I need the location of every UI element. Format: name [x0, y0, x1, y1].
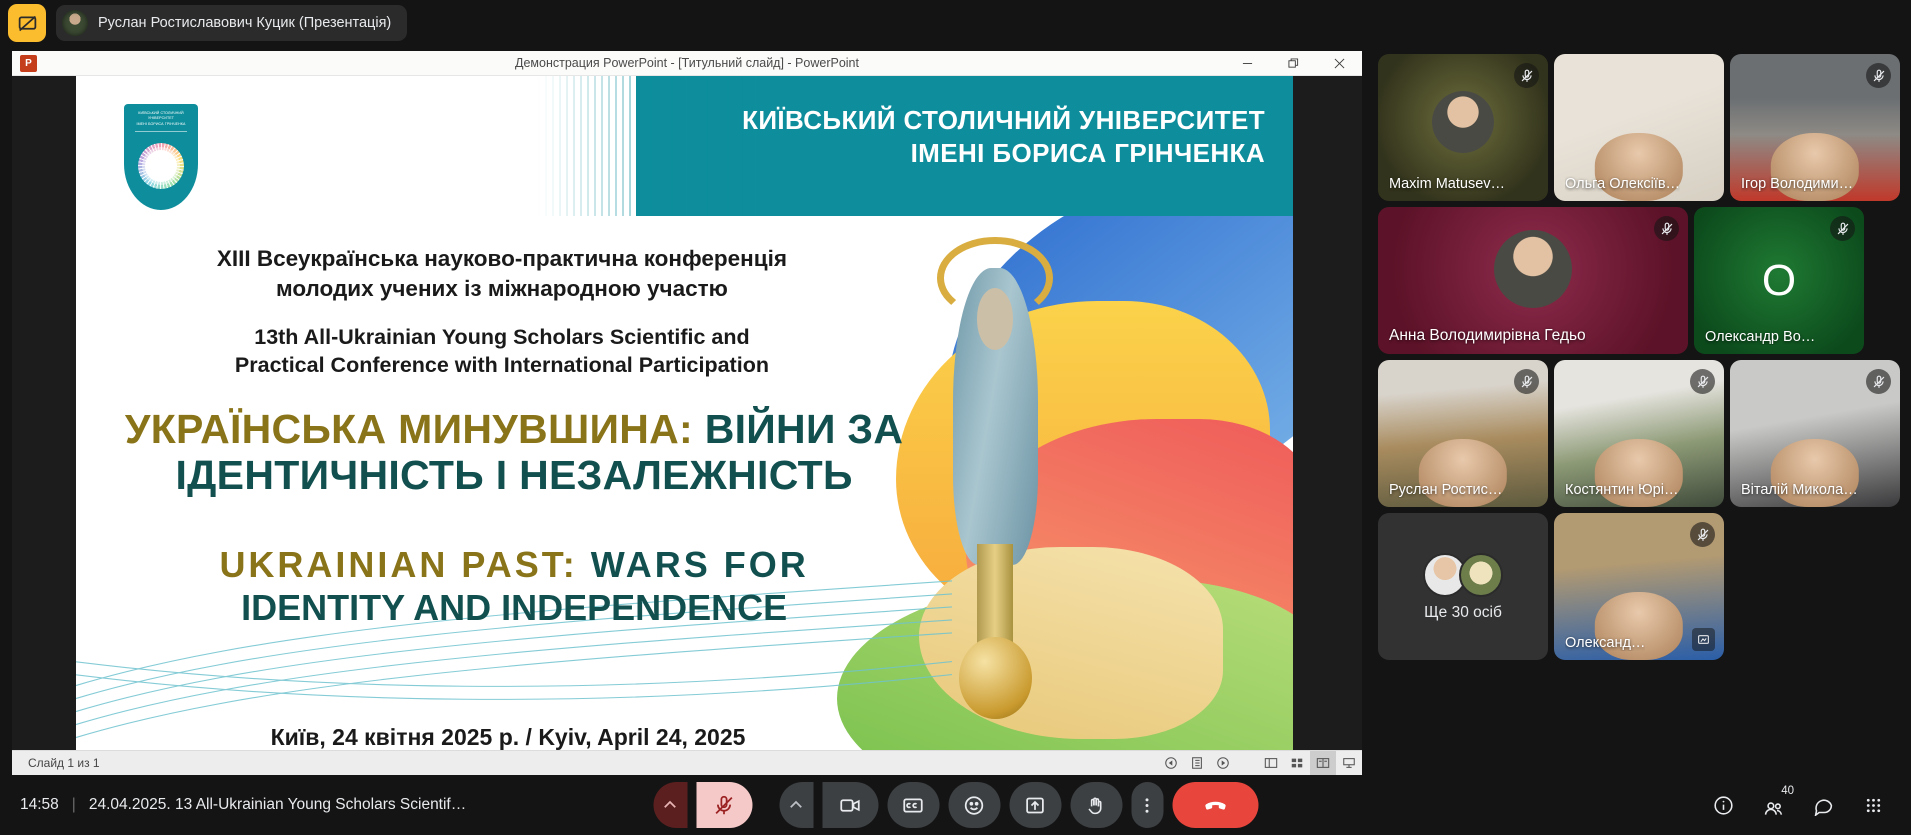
slide-show-area[interactable]: КИЇВСЬКИЙ СТОЛИЧНИЙ УНІВЕРСИТЕТ ІМЕНІ БО…	[12, 76, 1362, 750]
participant-name: Олександ…	[1565, 635, 1645, 651]
participant-tile[interactable]: Олександ…	[1554, 513, 1724, 660]
meeting-info: 14:58 | 24.04.2025. 13 All-Ukrainian You…	[20, 796, 466, 814]
avatar	[1494, 230, 1572, 308]
right-controls: 40	[1701, 775, 1895, 835]
chat-button[interactable]	[1801, 783, 1845, 827]
people-count: 40	[1781, 785, 1794, 797]
participant-grid: Maxim Matusev…Ольга Олексіїв…Ігор Володи…	[1378, 54, 1902, 660]
close-icon[interactable]	[1316, 51, 1362, 76]
presenter-name: Руслан Ростиславович Куцик (Презентація)	[98, 15, 391, 31]
activities-button[interactable]	[1851, 783, 1895, 827]
participant-tile[interactable]: Руслан Ростис…	[1378, 360, 1548, 507]
slide-counter: Слайд 1 из 1	[28, 756, 100, 770]
powerpoint-window: P Демонстрация PowerPoint - [Титульний с…	[12, 51, 1362, 775]
presenter-avatar	[62, 10, 88, 36]
participant-name: Ігор Володими…	[1741, 176, 1853, 192]
mic-off-icon	[1690, 522, 1715, 547]
restore-icon[interactable]	[1270, 51, 1316, 76]
participant-name: Костянтин Юрі…	[1565, 482, 1678, 498]
conference-title-ua: XIII Всеукраїнська науково-практична кон…	[76, 244, 928, 303]
participant-tile[interactable]: Віталій Микола…	[1730, 360, 1900, 507]
next-slide-icon[interactable]	[1210, 751, 1236, 776]
info-divider: |	[72, 796, 76, 814]
camera-options-button[interactable]	[779, 782, 813, 828]
mic-off-icon	[1514, 369, 1539, 394]
mic-toggle-button[interactable]	[696, 782, 752, 828]
camera-toggle-button[interactable]	[822, 782, 878, 828]
participant-tile[interactable]: Ще 30 осіб	[1378, 513, 1548, 660]
mic-off-icon	[1690, 369, 1715, 394]
participant-tile[interactable]: Maxim Matusev…	[1378, 54, 1548, 201]
participant-name: Анна Володимирівна Гедьо	[1389, 327, 1586, 345]
avatar	[1432, 91, 1494, 153]
conference-title-en: 13th All-Ukrainian Young Scholars Scient…	[76, 323, 928, 380]
meeting-details-button[interactable]	[1701, 783, 1745, 827]
participant-name: Ольга Олексіїв…	[1565, 176, 1680, 192]
participant-name: Maxim Matusev…	[1389, 176, 1505, 192]
normal-view-icon[interactable]	[1258, 751, 1284, 776]
mic-options-button[interactable]	[653, 782, 687, 828]
captions-button[interactable]	[887, 782, 939, 828]
stripe-decoration	[538, 76, 757, 216]
mic-off-icon	[1866, 63, 1891, 88]
university-logo: КИЇВСЬКИЙ СТОЛИЧНИЙ УНІВЕРСИТЕТ ІМЕНІ БО…	[124, 104, 198, 210]
participant-tile[interactable]: Костянтин Юрі…	[1554, 360, 1724, 507]
notes-icon[interactable]	[1184, 751, 1210, 776]
main-title-ua: УКРАЇНСЬКА МИНУВШИНА: ВІЙНИ ЗА ІДЕНТИЧНІ…	[76, 406, 952, 499]
participant-tile[interactable]: Ольга Олексіїв…	[1554, 54, 1724, 201]
pin-icon[interactable]	[1692, 628, 1715, 651]
end-call-button[interactable]	[1172, 782, 1258, 828]
participant-name: Віталій Микола…	[1741, 482, 1858, 498]
minimize-icon[interactable]	[1224, 51, 1270, 76]
mic-off-icon	[1830, 216, 1855, 241]
participant-tile[interactable]: Ігор Володими…	[1730, 54, 1900, 201]
presentation-slide: КИЇВСЬКИЙ СТОЛИЧНИЙ УНІВЕРСИТЕТ ІМЕНІ БО…	[76, 76, 1293, 750]
mic-off-icon	[1654, 216, 1679, 241]
slide-date: Київ, 24 квітня 2025 р. / Kyiv, April 24…	[76, 724, 940, 750]
bottom-bar: 14:58 | 24.04.2025. 13 All-Ukrainian You…	[0, 775, 1911, 835]
reactions-button[interactable]	[948, 782, 1000, 828]
overflow-avatars	[1427, 553, 1499, 597]
more-options-button[interactable]	[1131, 782, 1163, 828]
participant-tile[interactable]: ООлександр Во…	[1694, 207, 1864, 354]
stop-presenting-icon[interactable]	[8, 4, 46, 42]
meeting-time: 14:58	[20, 796, 59, 814]
logo-emblem-icon	[138, 143, 184, 189]
powerpoint-title-bar[interactable]: P Демонстрация PowerPoint - [Титульний с…	[12, 51, 1362, 76]
avatar-initial: О	[1694, 256, 1864, 306]
main-title-en: UKRAINIAN PAST: WARS FOR IDENTITY AND IN…	[76, 543, 952, 629]
present-button[interactable]	[1009, 782, 1061, 828]
participant-name: Руслан Ростис…	[1389, 482, 1502, 498]
presenter-chip[interactable]: Руслан Ростиславович Куцик (Презентація)	[56, 5, 407, 41]
reading-view-icon[interactable]	[1310, 751, 1336, 776]
slideshow-icon[interactable]	[1336, 751, 1362, 776]
slide-sorter-icon[interactable]	[1284, 751, 1310, 776]
overflow-count-label: Ще 30 осіб	[1378, 604, 1548, 622]
previous-slide-icon[interactable]	[1158, 751, 1184, 776]
mic-off-icon	[1866, 369, 1891, 394]
meeting-title: 24.04.2025. 13 All-Ukrainian Young Schol…	[89, 796, 466, 814]
participant-name: Олександр Во…	[1705, 329, 1815, 345]
slide-header-band: КИЇВСЬКИЙ СТОЛИЧНИЙ УНІВЕРСИТЕТ ІМЕНІ БО…	[76, 76, 1293, 216]
logo-line-1: КИЇВСЬКИЙ СТОЛИЧНИЙ УНІВЕРСИТЕТ	[129, 111, 193, 122]
university-banner: КИЇВСЬКИЙ СТОЛИЧНИЙ УНІВЕРСИТЕТ ІМЕНІ БО…	[742, 104, 1265, 171]
raise-hand-button[interactable]	[1070, 782, 1122, 828]
top-bar: Руслан Ростиславович Куцик (Презентація)	[0, 0, 1911, 46]
powerpoint-window-title: Демонстрация PowerPoint - [Титульний сла…	[12, 56, 1362, 70]
powerpoint-icon: P	[20, 55, 37, 72]
logo-line-2: ІМЕНІ БОРИСА ГРІНЧЕНКА	[129, 122, 193, 127]
powerpoint-status-bar: Слайд 1 из 1	[12, 750, 1362, 775]
people-button[interactable]: 40	[1751, 783, 1795, 827]
meeting-controls	[653, 782, 1258, 828]
participant-tile[interactable]: Анна Володимирівна Гедьо	[1378, 207, 1688, 354]
mic-off-icon	[1514, 63, 1539, 88]
